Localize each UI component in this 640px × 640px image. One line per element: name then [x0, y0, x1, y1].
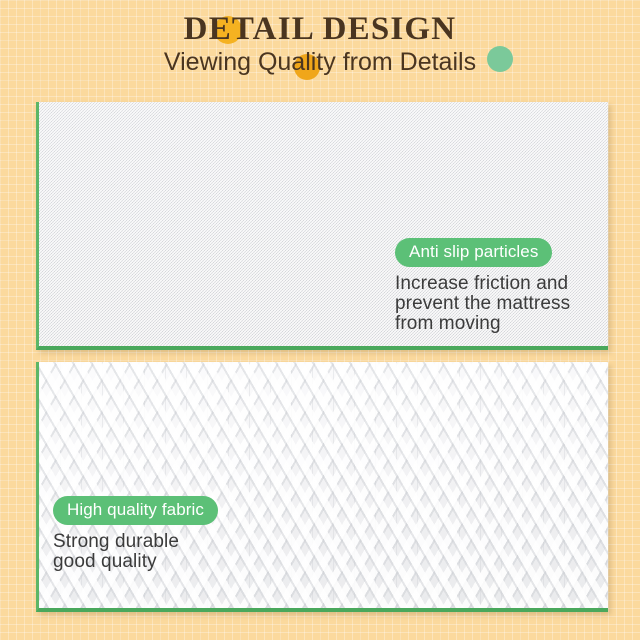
high-quality-fabric-panel: High quality fabric Strong durable good … — [36, 362, 608, 612]
high-quality-fabric-callout: High quality fabric Strong durable good … — [53, 496, 263, 572]
anti-slip-badge: Anti slip particles — [395, 238, 552, 267]
page-title: DETAIL DESIGN — [0, 11, 640, 48]
anti-slip-panel: Anti slip particles Increase friction an… — [36, 102, 608, 350]
high-quality-fabric-badge: High quality fabric — [53, 496, 218, 525]
anti-slip-description: Increase friction and prevent the mattre… — [395, 274, 595, 334]
anti-slip-callout: Anti slip particles Increase friction an… — [395, 238, 595, 334]
page-background: DETAIL DESIGN Viewing Quality from Detai… — [0, 0, 640, 640]
page-header: DETAIL DESIGN Viewing Quality from Detai… — [0, 0, 640, 100]
page-subtitle: Viewing Quality from Details — [0, 48, 640, 77]
high-quality-fabric-description: Strong durable good quality — [53, 532, 263, 572]
